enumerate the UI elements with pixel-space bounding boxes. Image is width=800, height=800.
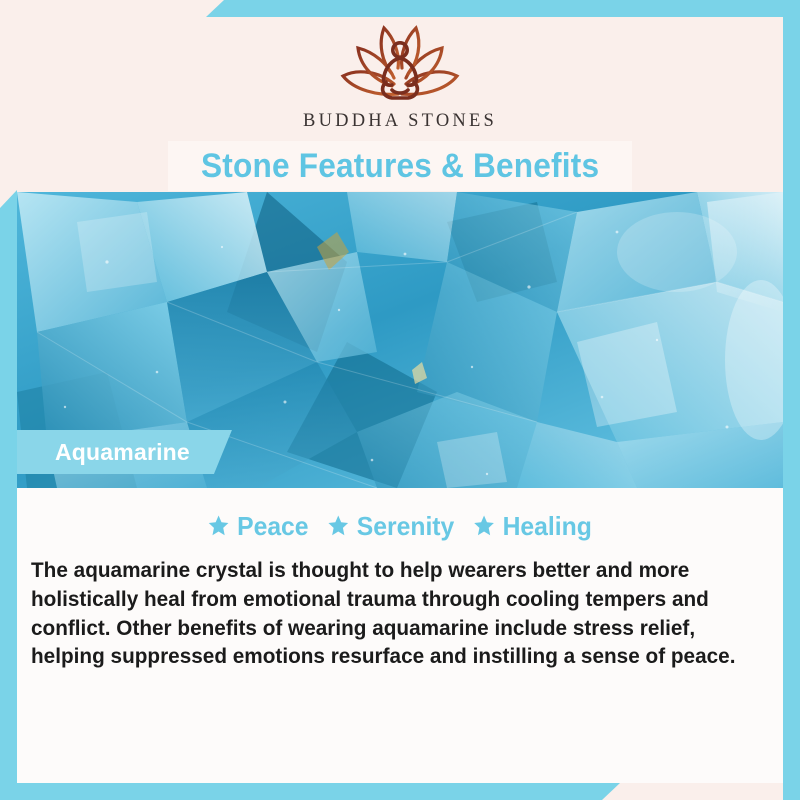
keyword-label-peace: Peace xyxy=(237,511,308,542)
title-banner: Stone Features & Benefits xyxy=(168,141,632,191)
lotus-meditation-icon xyxy=(334,20,466,106)
frame-accent-top xyxy=(206,0,800,17)
keyword-item-serenity: Serenity xyxy=(327,511,454,542)
brand-block: BUDDHA STONES xyxy=(0,20,800,132)
stone-name-badge: Aquamarine xyxy=(17,430,232,474)
description-text: The aquamarine crystal is thought to hel… xyxy=(31,556,745,671)
poster-canvas: BUDDHA STONES Stone Features & Benefits xyxy=(0,0,800,800)
keyword-label-healing: Healing xyxy=(503,511,592,542)
frame-accent-left xyxy=(0,190,17,800)
frame-accent-bottom xyxy=(0,783,620,800)
page-title: Stone Features & Benefits xyxy=(201,147,599,186)
star-icon xyxy=(327,514,349,537)
keyword-item-peace: Peace xyxy=(207,511,308,542)
stone-name: Aquamarine xyxy=(55,439,190,466)
keyword-item-healing: Healing xyxy=(474,511,593,542)
keyword-label-serenity: Serenity xyxy=(357,511,454,542)
keyword-list: Peace Serenity Healing xyxy=(17,488,783,542)
description-panel: Peace Serenity Healing The aquamarine cr… xyxy=(17,488,783,783)
brand-name: BUDDHA STONES xyxy=(0,111,800,132)
star-icon xyxy=(207,514,229,537)
stone-photo: Aquamarine xyxy=(17,192,783,488)
star-icon xyxy=(474,514,496,537)
